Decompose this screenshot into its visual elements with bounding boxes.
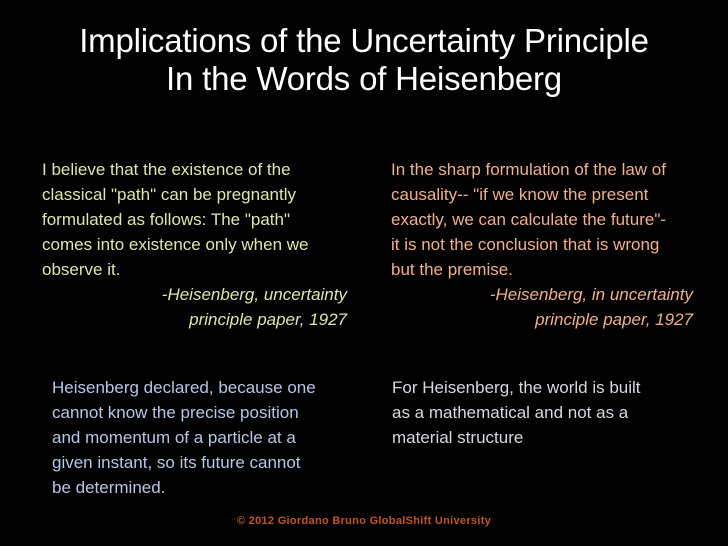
quote-line: formulated as follows: The "path" [42, 207, 347, 232]
note-line: cannot know the precise position [52, 400, 348, 425]
slide-title: Implications of the Uncertainty Principl… [0, 22, 728, 98]
note-line: given instant, so its future cannot [52, 450, 348, 475]
note-block-bottom-left: Heisenberg declared, because one cannot … [52, 375, 348, 500]
note-block-bottom-right: For Heisenberg, the world is built as a … [392, 375, 692, 450]
quote-line: it is not the conclusion that is wrong [391, 232, 693, 257]
quote-line: but the premise. [391, 257, 693, 282]
note-line: For Heisenberg, the world is built [392, 375, 692, 400]
attribution-line: -Heisenberg, uncertainty [42, 282, 347, 307]
quote-text-top-left: I believe that the existence of the clas… [42, 157, 347, 282]
quote-block-top-right: In the sharp formulation of the law of c… [391, 157, 693, 332]
slide-title-line-2: In the Words of Heisenberg [0, 60, 728, 98]
quote-line: exactly, we can calculate the future"- [391, 207, 693, 232]
slide-canvas: Implications of the Uncertainty Principl… [0, 0, 728, 546]
slide-title-line-1: Implications of the Uncertainty Principl… [0, 22, 728, 60]
attribution-line: principle paper, 1927 [391, 307, 693, 332]
note-line: and momentum of a particle at a [52, 425, 348, 450]
quote-line: comes into existence only when we [42, 232, 347, 257]
quote-line: causality-- "if we know the present [391, 182, 693, 207]
attribution-line: principle paper, 1927 [42, 307, 347, 332]
quote-attribution-top-left: -Heisenberg, uncertainty principle paper… [42, 282, 347, 332]
quote-attribution-top-right: -Heisenberg, in uncertainty principle pa… [391, 282, 693, 332]
quote-line: In the sharp formulation of the law of [391, 157, 693, 182]
attribution-line: -Heisenberg, in uncertainty [391, 282, 693, 307]
note-line: material structure [392, 425, 692, 450]
quote-line: I believe that the existence of the [42, 157, 347, 182]
note-line: be determined. [52, 475, 348, 500]
quote-text-top-right: In the sharp formulation of the law of c… [391, 157, 693, 282]
note-line: as a mathematical and not as a [392, 400, 692, 425]
note-line: Heisenberg declared, because one [52, 375, 348, 400]
quote-line: observe it. [42, 257, 347, 282]
note-text-bottom-left: Heisenberg declared, because one cannot … [52, 375, 348, 500]
quote-line: classical "path" can be pregnantly [42, 182, 347, 207]
copyright-footer: © 2012 Giordano Bruno GlobalShift Univer… [0, 515, 728, 527]
note-text-bottom-right: For Heisenberg, the world is built as a … [392, 375, 692, 450]
quote-block-top-left: I believe that the existence of the clas… [42, 157, 347, 332]
